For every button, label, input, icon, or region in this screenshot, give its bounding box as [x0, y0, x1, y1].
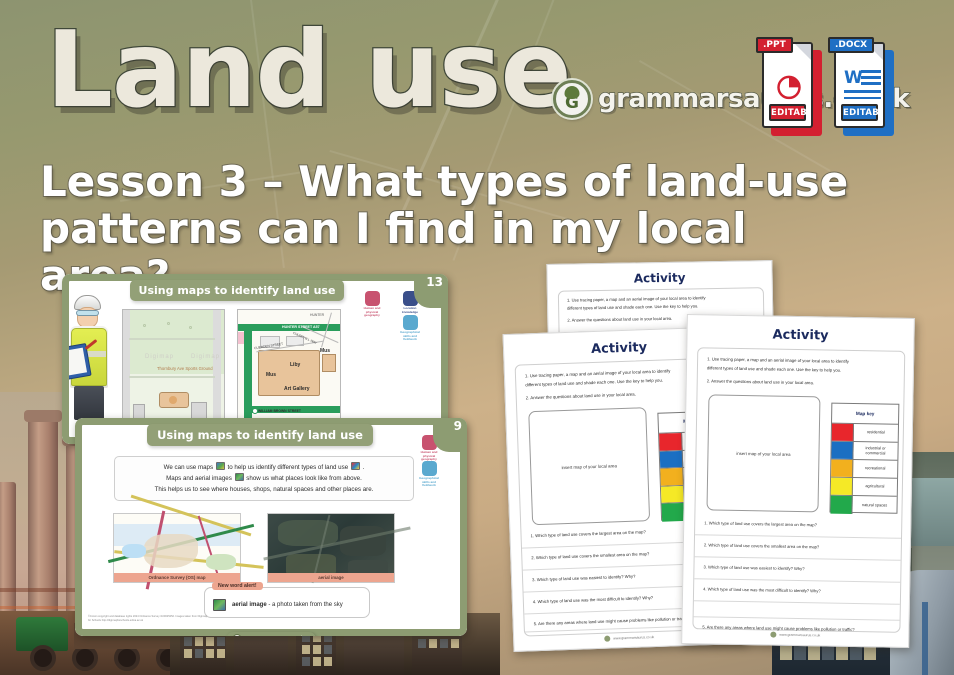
- map-poi-label: Art Gallery: [284, 386, 310, 392]
- logo-dot-icon: [770, 632, 776, 638]
- key-swatch: [831, 442, 853, 459]
- slide-title: Using maps to identify land use: [130, 280, 344, 301]
- body-line: This helps us to see where houses, shops…: [121, 484, 407, 495]
- question-text: 3. Which type of land use was easiest to…: [532, 574, 635, 583]
- instruction-line: 2. Answer the questions about land use i…: [526, 392, 636, 401]
- map-watermark: Digimap: [191, 354, 220, 360]
- map-key-row: residential: [832, 424, 898, 443]
- question-text: 5. Are there any areas where land use mi…: [534, 616, 690, 626]
- key-swatch: [660, 468, 684, 485]
- docx-editable-label: EDITABLE: [841, 104, 878, 121]
- question-text: 4. Which type of land use was the most d…: [703, 586, 821, 593]
- key-label: agricultural: [853, 478, 897, 496]
- key-swatch: [831, 460, 853, 477]
- sheet-footer: www.grammarsaurus.co.uk: [770, 632, 820, 639]
- key-swatch: [659, 433, 683, 450]
- key-swatch: [832, 424, 854, 441]
- resource-preview: Land use Lesson 3 – What types of land-u…: [0, 0, 954, 675]
- map-key-row: natural spaces: [830, 496, 896, 515]
- map-key-header: Map key: [832, 404, 898, 425]
- map-poi-label: Liby: [290, 362, 300, 368]
- map-street-label: WILLIAM BROWN STREET: [258, 409, 301, 413]
- instruction-line: 2. Answer the questions about land use i…: [567, 316, 672, 323]
- map-image-right: HUNTER STREET A57 HUNTER CHURCHILL WAY C…: [237, 309, 341, 421]
- ppt-editable-label: EDITABLE: [769, 104, 806, 121]
- question-text: 1. Which type of land use covers the lar…: [704, 520, 817, 527]
- copyright-text: ©Crown copyright and database rights 202…: [88, 615, 208, 623]
- instruction-line: 2. Answer the questions about land use i…: [707, 378, 814, 385]
- instruction-line: different types of land use and shade ea…: [707, 365, 841, 372]
- skill-badge-geographical-skills: Geographical skills and fieldwork: [397, 315, 423, 342]
- slide-9[interactable]: We can use maps to help us identify diff…: [75, 418, 467, 636]
- map-street-label: HUNTER STREET A57: [282, 325, 320, 329]
- photo-caption: aerial image: [268, 573, 394, 582]
- aerial-image-icon: [213, 599, 226, 611]
- question-text: 2. Which type of land use covers the sma…: [704, 542, 819, 549]
- os-map-photo: Ordnance Survey (OS) map: [113, 513, 241, 583]
- map-placeholder[interactable]: insert map of your local area: [706, 394, 820, 512]
- instruction-line: different types of land use and shade ea…: [525, 378, 663, 388]
- key-label: industrial or commercial: [853, 442, 897, 460]
- slide-footer-pill: www.grammarsaurus.co.uk: [227, 632, 316, 636]
- instruction-line: 1. Use tracing paper, a map and an aeria…: [525, 368, 671, 378]
- grammarsaurus-logo-icon: G: [553, 80, 591, 118]
- logo-dot-icon: [604, 636, 610, 642]
- safety-glasses-icon: [76, 310, 99, 316]
- map-poi-label: Mus: [266, 372, 276, 378]
- file-type-badges: EDITABLE .PPT W EDITABLE .DOCX: [762, 42, 894, 136]
- new-word-alert-tab: New word alert!: [212, 582, 263, 590]
- map-key-row: recreational: [831, 460, 897, 479]
- sheet-title: Activity: [548, 269, 772, 287]
- aerial-image-icon: [235, 473, 244, 481]
- instruction-line: 1. Use tracing paper, a map and an aeria…: [707, 356, 849, 363]
- skill-badge-geographical-skills: Geographical skills and fieldwork: [416, 461, 442, 488]
- sheet-title: Activity: [687, 326, 913, 345]
- question-text: 2. Which type of land use covers the sma…: [531, 551, 649, 560]
- map-poi-label: Mus: [320, 348, 330, 354]
- map-key-row: industrial or commercial: [831, 442, 897, 461]
- ppt-badge[interactable]: EDITABLE .PPT: [762, 42, 822, 136]
- new-word-alert-box: New word alert! aerial image - a photo t…: [204, 587, 370, 618]
- ppt-type-tag: .PPT: [756, 37, 793, 53]
- page-fold-icon: [795, 44, 811, 60]
- slide-page-number: 9: [433, 418, 467, 452]
- pie-chart-icon: [775, 72, 803, 100]
- land-use-key-icon: [351, 462, 360, 470]
- text-lines-icon: [861, 70, 881, 88]
- skill-badge-human-physical-geography: Human and physical geography: [359, 291, 385, 318]
- text-lines-icon: [844, 90, 881, 103]
- sheet-footer: www.grammarsaurus.co.uk: [604, 634, 654, 642]
- key-swatch: [831, 478, 853, 495]
- question-text: 4. Which type of land use was the most d…: [533, 595, 653, 604]
- map-icon: [216, 462, 225, 470]
- slide-title: Using maps to identify land use: [147, 424, 373, 446]
- body-line: We can use maps to help us identify diff…: [121, 462, 407, 473]
- docx-type-tag: .DOCX: [828, 37, 874, 53]
- new-word-definition: aerial image - a photo taken from the sk…: [232, 602, 343, 608]
- activity-sheet-front[interactable]: Activity 1. Use tracing paper, a map and…: [681, 314, 915, 648]
- slide-page-number: 13: [414, 274, 448, 308]
- leaf-icon: [565, 86, 580, 99]
- key-swatch: [662, 503, 686, 521]
- surveyor-illustration: [69, 293, 113, 421]
- docx-badge[interactable]: W EDITABLE .DOCX: [834, 42, 894, 136]
- slide-body-text: We can use maps to help us identify diff…: [114, 456, 414, 501]
- word-w-icon: W: [844, 68, 863, 88]
- map-image-left: Thornbury Ave Sports Ground Digimap Digi…: [122, 309, 225, 421]
- map-street-label: HUNTER: [310, 313, 324, 317]
- key-swatch: [660, 450, 684, 467]
- footer-url: www.grammarsaurus.co.uk: [613, 635, 654, 640]
- instruction-line: 1. Use tracing paper, a map and an aeria…: [567, 295, 706, 302]
- photo-caption: Ordnance Survey (OS) map: [114, 573, 240, 582]
- key-swatch: [830, 496, 852, 514]
- page-title: Land use: [46, 18, 571, 123]
- footer-url: www.grammarsaurus.co.uk: [779, 633, 820, 638]
- key-label: residential: [854, 424, 898, 442]
- key-label: recreational: [853, 460, 897, 478]
- body-line: Maps and aerial images show us what plac…: [121, 473, 407, 484]
- aerial-photo: aerial image: [267, 513, 395, 583]
- new-word-term: aerial image: [232, 602, 267, 608]
- instruction-line: different types of land use and shade ea…: [567, 303, 698, 310]
- key-label: natural spaces: [852, 496, 896, 515]
- map-watermark: Digimap: [145, 354, 174, 360]
- new-word-meaning: - a photo taken from the sky: [268, 602, 342, 608]
- map-key-row: agricultural: [831, 478, 897, 497]
- key-swatch: [661, 485, 685, 502]
- map-label: Thornbury Ave Sports Ground: [157, 366, 213, 371]
- map-placeholder[interactable]: insert map of your local area: [528, 407, 650, 525]
- question-text: 3. Which type of land use was easiest to…: [703, 564, 804, 571]
- question-text: 1. Which type of land use covers the lar…: [530, 529, 645, 538]
- logo-dot-icon: [233, 634, 242, 636]
